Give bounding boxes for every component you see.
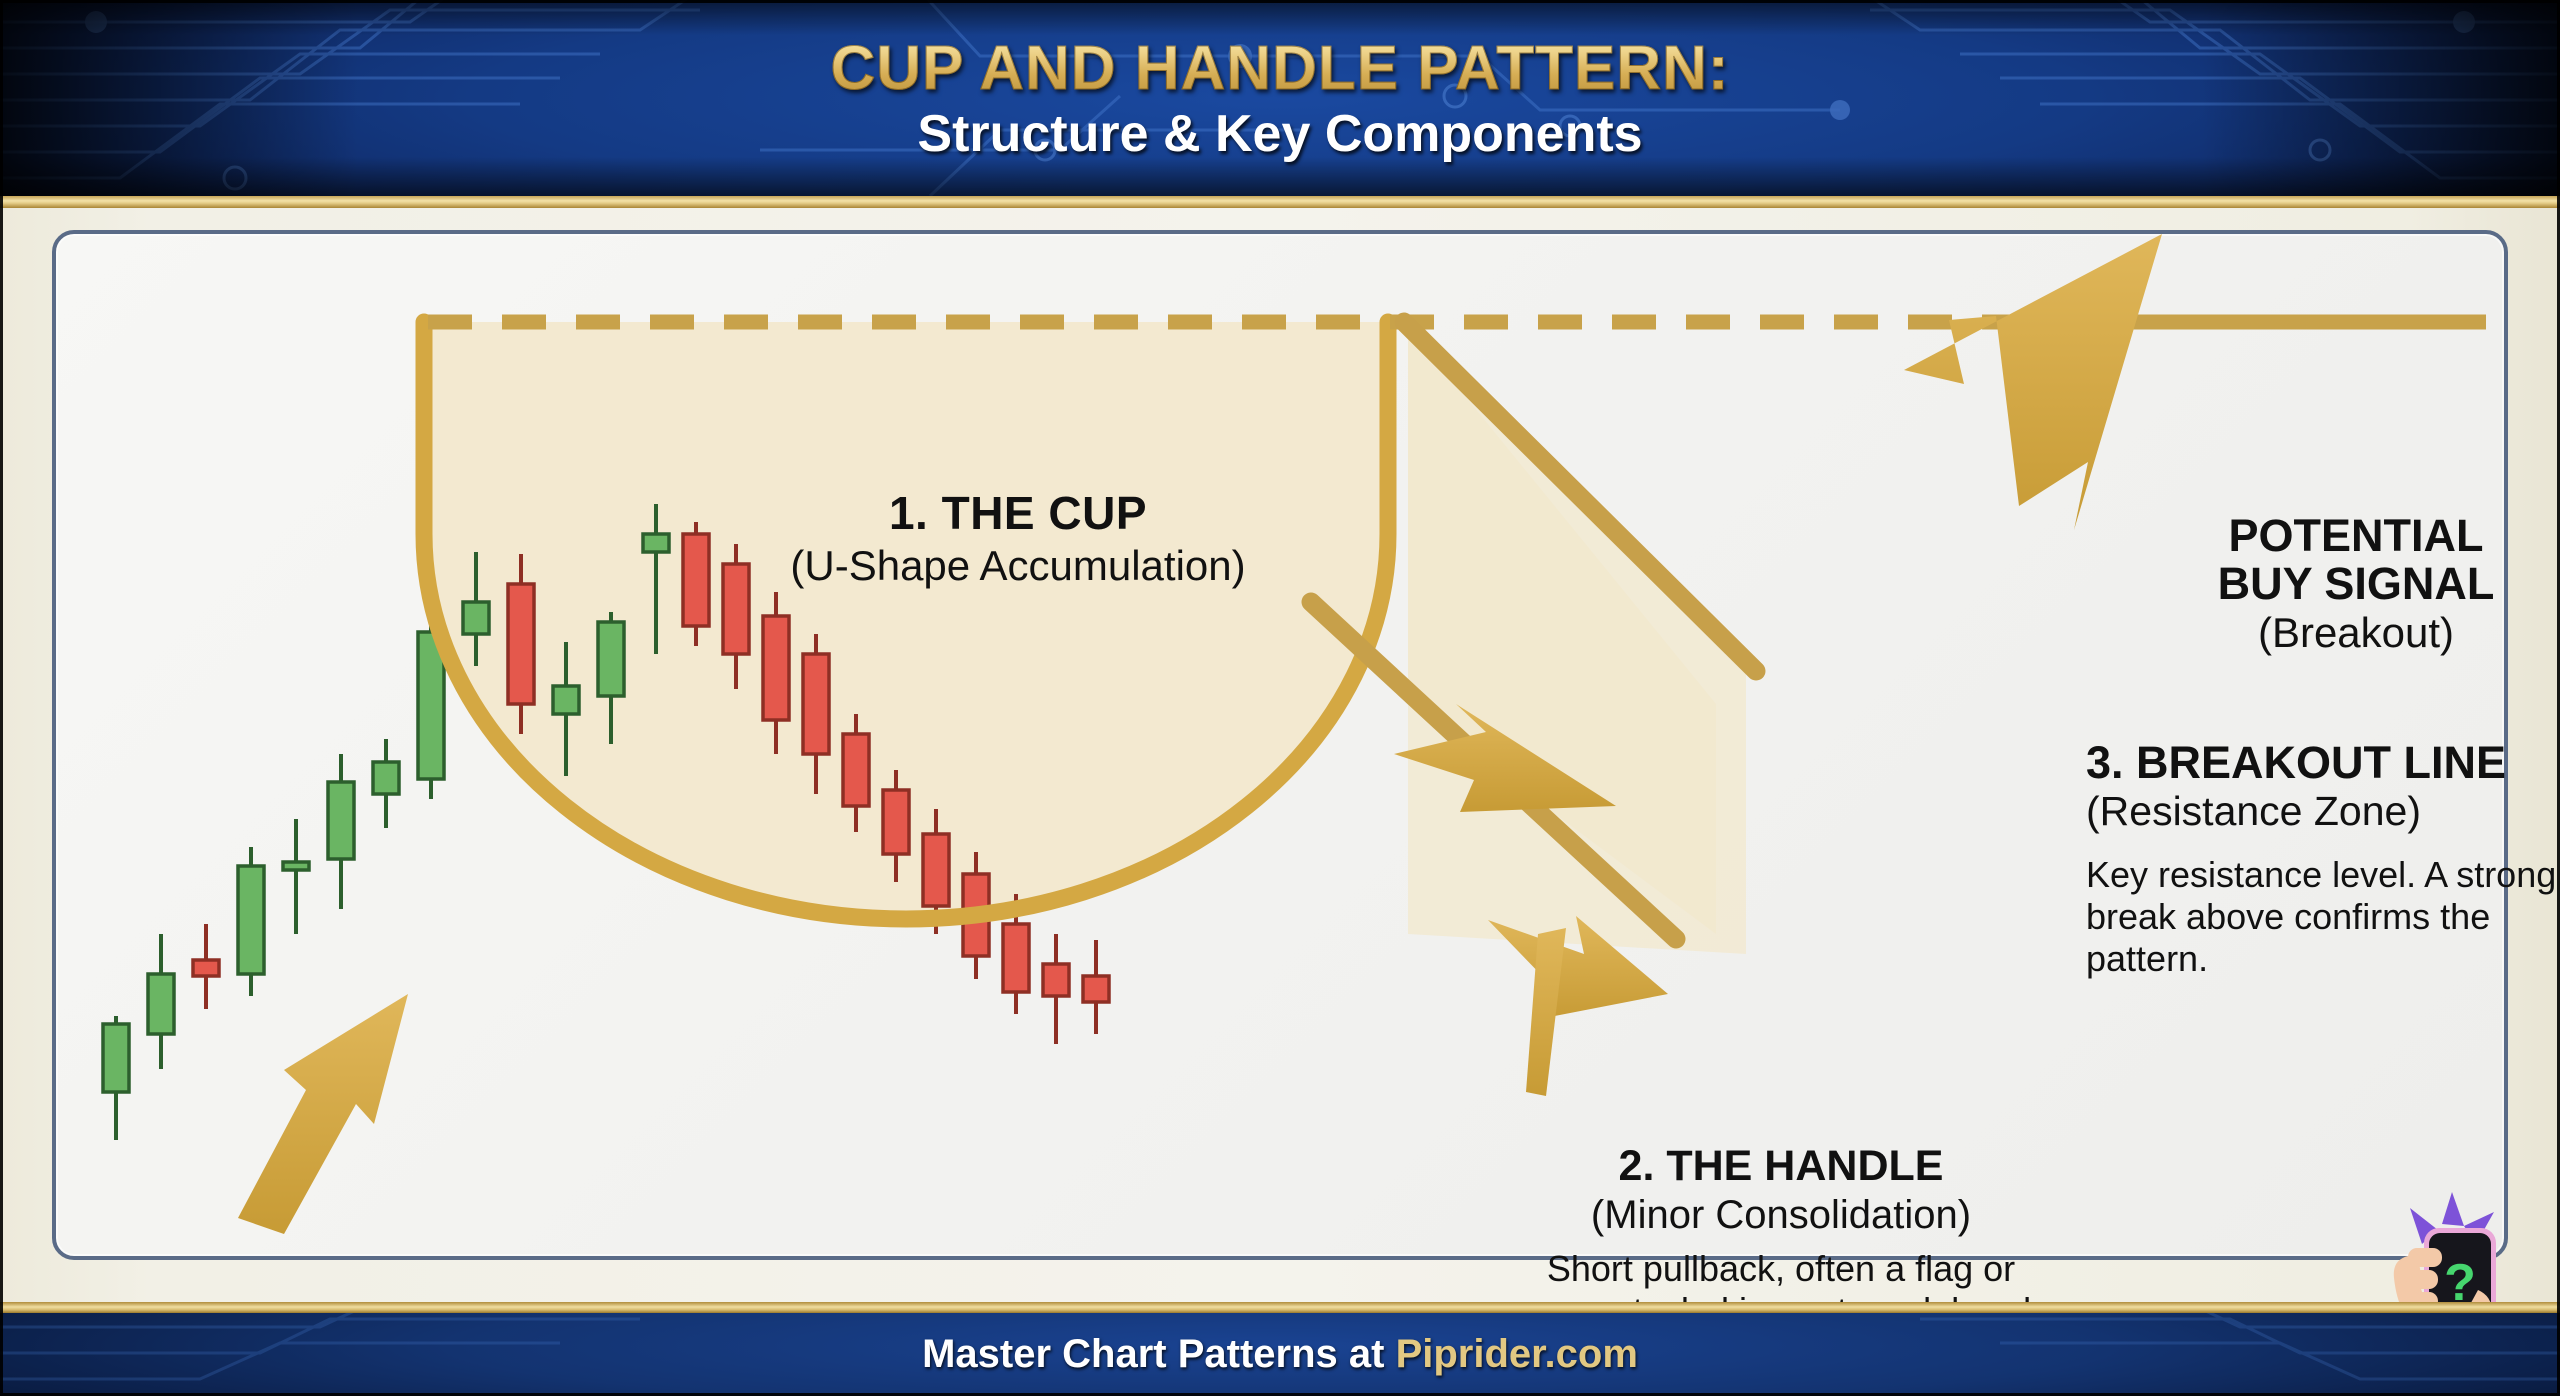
breakout-subheading: (Resistance Zone): [2086, 789, 2560, 834]
buy-signal-label: POTENTIAL BUY SIGNAL (Breakout): [2146, 512, 2560, 657]
page-subtitle: Structure & Key Components: [917, 104, 1642, 164]
candle-body: [923, 834, 949, 906]
chart-stage: 1. THE CUP (U-Shape Accumulation) Gradua…: [0, 208, 2560, 1308]
candle-body: [1083, 976, 1109, 1002]
candle-body: [283, 862, 309, 870]
candle-body: [598, 622, 624, 696]
candle-body: [328, 782, 354, 859]
candle-body: [463, 602, 489, 634]
candle-body: [148, 974, 174, 1034]
cup-label: 1. THE CUP (U-Shape Accumulation): [668, 489, 1368, 589]
handle-subheading: (Minor Consolidation): [1496, 1193, 2066, 1237]
candle-body: [373, 762, 399, 794]
buy-signal-subheading: (Breakout): [2146, 610, 2560, 656]
candle-body: [508, 584, 534, 704]
page-title: CUP AND HANDLE PATTERN:: [830, 33, 1729, 104]
handle-heading: 2. THE HANDLE: [1496, 1144, 2066, 1190]
cup-subheading: (U-Shape Accumulation): [668, 543, 1368, 589]
breakout-heading: 3. BREAKOUT LINE: [2086, 739, 2560, 787]
header-banner: CUP AND HANDLE PATTERN: Structure & Key …: [0, 0, 2560, 196]
candle-body: [103, 1024, 129, 1092]
breakout-description: Key resistance level. A strong break abo…: [2086, 854, 2560, 980]
candle-body: [193, 960, 219, 976]
candle-body: [883, 790, 909, 854]
buy-signal-heading-2: BUY SIGNAL: [2146, 560, 2560, 608]
footer-text: Master Chart Patterns at Piprider.com: [922, 1332, 1638, 1377]
footer-gold-divider: [0, 1302, 2560, 1313]
candle-body: [238, 866, 264, 974]
buy-signal-arrow: [1904, 234, 2162, 530]
candle-body: [803, 654, 829, 754]
buy-signal-heading-1: POTENTIAL: [2146, 512, 2560, 560]
footer-text-prefix: Master Chart Patterns at: [922, 1332, 1395, 1376]
footer-banner: Master Chart Patterns at Piprider.com: [0, 1313, 2560, 1396]
candle-body: [1043, 964, 1069, 996]
cup-heading: 1. THE CUP: [668, 489, 1368, 538]
candle-body: [643, 534, 669, 552]
footer-brand: Piprider.com: [1396, 1332, 1638, 1376]
candle-body: [763, 616, 789, 720]
cup-pointer-arrow: [238, 994, 408, 1234]
candle-body: [553, 686, 579, 714]
breakout-label: 3. BREAKOUT LINE (Resistance Zone) Key r…: [2086, 739, 2560, 980]
candle-body: [843, 734, 869, 806]
chart-panel: 1. THE CUP (U-Shape Accumulation) Gradua…: [52, 230, 2508, 1260]
candle-body: [1003, 924, 1029, 992]
header-gold-divider: [0, 196, 2560, 208]
infographic-page: CUP AND HANDLE PATTERN: Structure & Key …: [0, 0, 2560, 1396]
